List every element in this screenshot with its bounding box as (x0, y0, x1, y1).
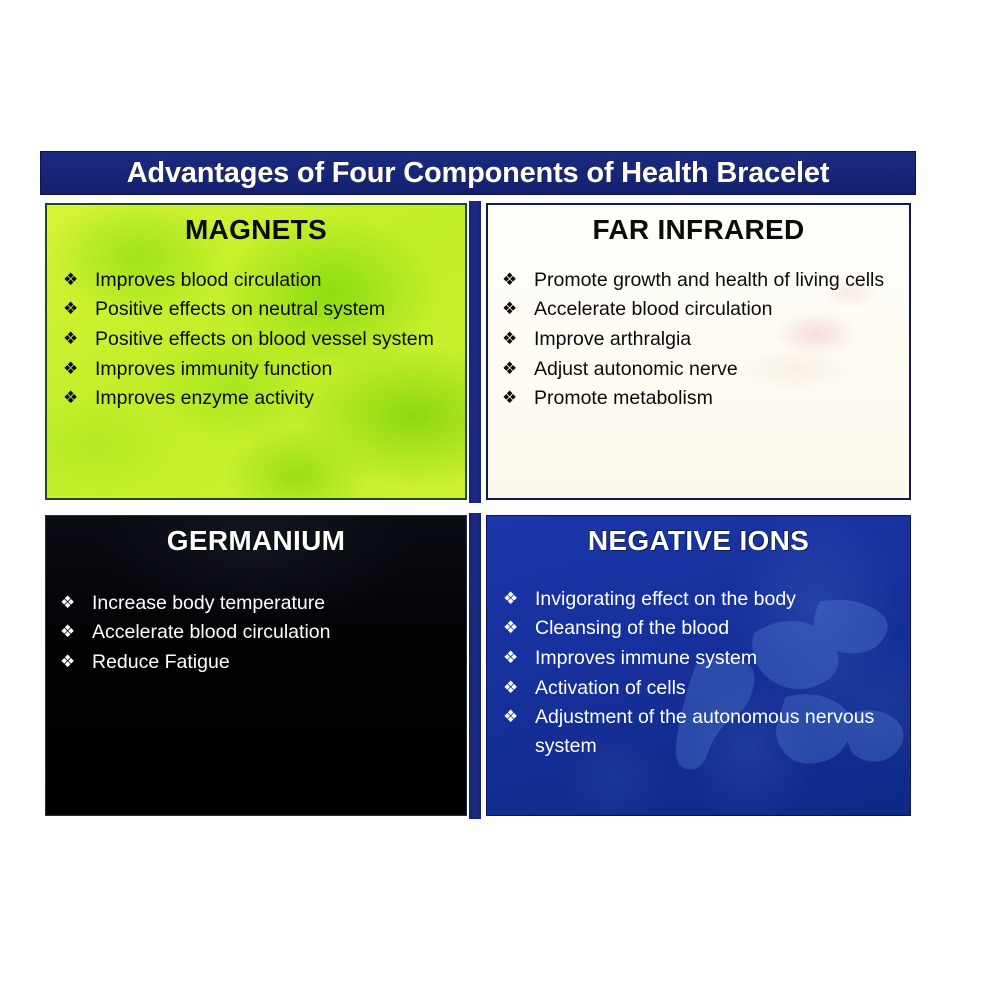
list-item-label: Activation of cells (535, 674, 896, 703)
bullet-list-negative-ions: ❖ Invigorating effect on the body ❖ Clea… (487, 563, 910, 761)
diamond-bullet-icon: ❖ (63, 355, 95, 383)
list-item: ❖ Adjustment of the autonomous nervous s… (503, 703, 896, 760)
horizontal-seam-divider (40, 503, 916, 513)
list-item-label: Accelerate blood circulation (92, 618, 452, 647)
list-item-label: Accelerate blood circulation (534, 295, 895, 324)
diamond-bullet-icon: ❖ (503, 703, 535, 731)
diamond-bullet-icon: ❖ (60, 648, 92, 676)
list-item-label: Improves immunity function (95, 355, 451, 384)
diamond-bullet-icon: ❖ (63, 295, 95, 323)
list-item: ❖ Cleansing of the blood (503, 614, 896, 643)
diamond-bullet-icon: ❖ (502, 295, 534, 323)
panel-heading-far-infrared: FAR INFRARED (488, 215, 909, 246)
panel-germanium: GERMANIUM ❖ Increase body temperature ❖ … (45, 515, 467, 816)
list-item: ❖ Promote metabolism (502, 384, 895, 413)
list-item-label: Invigorating effect on the body (535, 585, 896, 614)
list-item-label: Adjustment of the autonomous nervous sys… (535, 703, 896, 760)
list-item-label: Reduce Fatigue (92, 648, 452, 677)
list-item-label: Improves enzyme activity (95, 384, 451, 413)
list-item-label: Improve arthralgia (534, 325, 895, 354)
list-item: ❖ Improves immune system (503, 644, 896, 673)
diamond-bullet-icon: ❖ (502, 355, 534, 383)
list-item-label: Promote metabolism (534, 384, 895, 413)
diamond-bullet-icon: ❖ (503, 674, 535, 702)
list-item-label: Increase body temperature (92, 589, 452, 618)
list-item: ❖ Improves blood circulation (63, 266, 451, 295)
diamond-bullet-icon: ❖ (503, 585, 535, 613)
diamond-bullet-icon: ❖ (63, 384, 95, 412)
title-bar: Advantages of Four Components of Health … (40, 151, 916, 195)
diamond-bullet-icon: ❖ (502, 384, 534, 412)
panel-negative-ions: NEGATIVE IONS ❖ Invigorating effect on t… (486, 515, 911, 816)
list-item: ❖ Increase body temperature (60, 589, 452, 618)
list-item: ❖ Improves immunity function (63, 355, 451, 384)
diamond-bullet-icon: ❖ (63, 325, 95, 353)
list-item-label: Adjust autonomic nerve (534, 355, 895, 384)
panel-heading-negative-ions: NEGATIVE IONS (487, 526, 910, 557)
list-item: ❖ Accelerate blood circulation (60, 618, 452, 647)
panel-heading-magnets: MAGNETS (47, 215, 465, 246)
bullet-list-magnets: ❖ Improves blood circulation ❖ Positive … (47, 252, 465, 413)
list-item: ❖ Promote growth and health of living ce… (502, 266, 895, 295)
list-item: ❖ Activation of cells (503, 674, 896, 703)
list-item-label: Positive effects on neutral system (95, 295, 451, 324)
list-item: ❖ Positive effects on neutral system (63, 295, 451, 324)
infographic-root: Advantages of Four Components of Health … (40, 151, 916, 819)
diamond-bullet-icon: ❖ (502, 266, 534, 294)
panel-far-infrared: FAR INFRARED ❖ Promote growth and health… (486, 203, 911, 500)
list-item-label: Improves immune system (535, 644, 896, 673)
list-item-label: Improves blood circulation (95, 266, 451, 295)
list-item: ❖ Invigorating effect on the body (503, 585, 896, 614)
diamond-bullet-icon: ❖ (60, 618, 92, 646)
diamond-bullet-icon: ❖ (63, 266, 95, 294)
panel-magnets: MAGNETS ❖ Improves blood circulation ❖ P… (45, 203, 467, 500)
list-item: ❖ Adjust autonomic nerve (502, 355, 895, 384)
bullet-list-far-infrared: ❖ Promote growth and health of living ce… (488, 252, 909, 413)
list-item: ❖ Improve arthralgia (502, 325, 895, 354)
list-item-label: Promote growth and health of living cell… (534, 266, 895, 295)
list-item: ❖ Improves enzyme activity (63, 384, 451, 413)
diamond-bullet-icon: ❖ (502, 325, 534, 353)
list-item-label: Positive effects on blood vessel system (95, 325, 451, 354)
bullet-list-germanium: ❖ Increase body temperature ❖ Accelerate… (46, 563, 466, 677)
panel-heading-germanium: GERMANIUM (46, 526, 466, 557)
list-item: ❖ Accelerate blood circulation (502, 295, 895, 324)
diamond-bullet-icon: ❖ (503, 644, 535, 672)
diamond-bullet-icon: ❖ (60, 589, 92, 617)
diamond-bullet-icon: ❖ (503, 614, 535, 642)
list-item-label: Cleansing of the blood (535, 614, 896, 643)
page-title: Advantages of Four Components of Health … (127, 157, 830, 190)
list-item: ❖ Positive effects on blood vessel syste… (63, 325, 451, 354)
list-item: ❖ Reduce Fatigue (60, 648, 452, 677)
